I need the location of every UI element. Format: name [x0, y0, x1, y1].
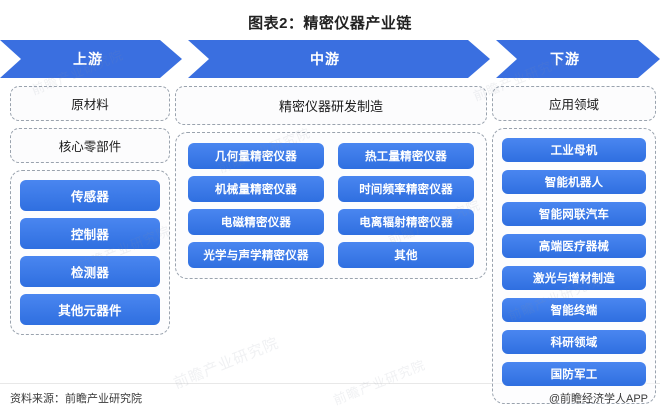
upstream-item-controller: 控制器: [20, 218, 160, 249]
upstream-item-detector: 检测器: [20, 256, 160, 287]
downstream-item-machine-tools: 工业母机: [502, 138, 646, 162]
value-chain-chevron-band: 上游 中游 下游: [0, 40, 660, 78]
watermark-text: 前瞻产业研究院: [170, 332, 282, 393]
upstream-item-other-components: 其他元器件: [20, 294, 160, 325]
midstream-item-other: 其他: [338, 242, 474, 268]
upstream-header-raw-materials: 原材料: [10, 86, 170, 121]
midstream-items-group: 几何量精密仪器 机械量精密仪器 电磁精密仪器 光学与声学精密仪器 热工量精密仪器…: [175, 132, 487, 279]
upstream-item-sensor: 传感器: [20, 180, 160, 211]
midstream-item-optical-acoustic: 光学与声学精密仪器: [188, 242, 324, 268]
upstream-header-core-components: 核心零部件: [10, 128, 170, 163]
chevron-label-downstream: 下游: [490, 40, 640, 78]
downstream-column: 应用领域 工业母机 智能机器人 智能网联汽车 高端医疗器械 激光与增材制造 智能…: [492, 86, 656, 404]
midstream-header-rd-manufacturing: 精密仪器研发制造: [175, 86, 487, 125]
midstream-left-items: 几何量精密仪器 机械量精密仪器 电磁精密仪器 光学与声学精密仪器: [188, 143, 324, 268]
midstream-item-thermal: 热工量精密仪器: [338, 143, 474, 169]
midstream-item-geometric: 几何量精密仪器: [188, 143, 324, 169]
midstream-item-mechanical: 机械量精密仪器: [188, 176, 324, 202]
downstream-item-smart-robots: 智能机器人: [502, 170, 646, 194]
upstream-column: 原材料 核心零部件 传感器 控制器 检测器 其他元器件: [10, 86, 170, 335]
downstream-item-defense: 国防军工: [502, 362, 646, 386]
downstream-item-laser-additive: 激光与增材制造: [502, 266, 646, 290]
downstream-item-research: 科研领域: [502, 330, 646, 354]
midstream-item-electromagnetic: 电磁精密仪器: [188, 209, 324, 235]
page-title: 图表2：精密仪器产业链: [0, 12, 660, 33]
upstream-items-group: 传感器 控制器 检测器 其他元器件: [10, 170, 170, 335]
midstream-column: 精密仪器研发制造 几何量精密仪器 机械量精密仪器 电磁精密仪器 光学与声学精密仪…: [175, 86, 487, 279]
downstream-items-group: 工业母机 智能机器人 智能网联汽车 高端医疗器械 激光与增材制造 智能终端 科研…: [492, 128, 656, 404]
midstream-right-items: 热工量精密仪器 时间频率精密仪器 电离辐射精密仪器 其他: [338, 143, 474, 268]
midstream-item-time-frequency: 时间频率精密仪器: [338, 176, 474, 202]
watermark-text: 前瞻产业研究院: [330, 354, 428, 408]
downstream-item-medical-devices: 高端医疗器械: [502, 234, 646, 258]
midstream-item-ionizing-radiation: 电离辐射精密仪器: [338, 209, 474, 235]
chevron-label-midstream: 中游: [195, 40, 455, 78]
downstream-item-connected-vehicles: 智能网联汽车: [502, 202, 646, 226]
app-attribution: @前瞻经济学人APP: [549, 390, 648, 406]
chevron-label-upstream: 上游: [18, 40, 158, 78]
downstream-item-smart-terminals: 智能终端: [502, 298, 646, 322]
source-note: 资料来源：前瞻产业研究院: [10, 390, 142, 406]
downstream-header-application-fields: 应用领域: [492, 86, 656, 121]
